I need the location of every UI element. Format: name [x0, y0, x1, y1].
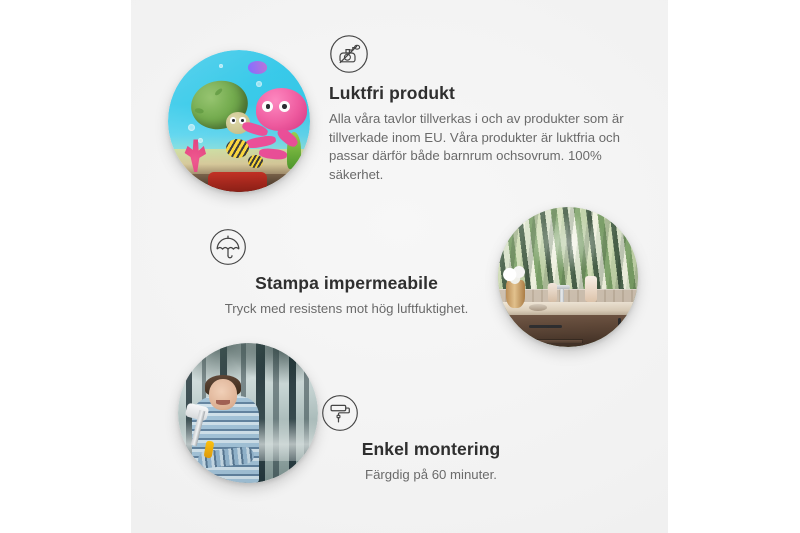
feature-title: Luktfri produkt	[329, 83, 629, 105]
screenshot-root: Luktfri produkt Alla våra tavlor tillver…	[0, 0, 800, 533]
sea-artwork	[168, 50, 310, 192]
umbrella-icon	[209, 228, 484, 266]
person-smile	[216, 400, 230, 404]
feature-description: Alla våra tavlor tillverkas i och av pro…	[329, 110, 629, 185]
sea-shipwreck	[208, 172, 268, 192]
cabinet-handle	[618, 318, 622, 343]
soap-bottle	[548, 283, 556, 303]
feature-title: Stampa impermeabile	[209, 273, 484, 295]
octopus-eye	[279, 101, 290, 112]
forest-canopy	[178, 343, 318, 402]
no-fragrance-icon	[329, 34, 629, 74]
flowers	[501, 264, 530, 285]
fish-icon	[248, 155, 264, 168]
product-image-sea[interactable]	[168, 50, 310, 192]
feature-description: Tryck med resistens mot hög luftfuktighe…	[209, 300, 484, 319]
feature-odourless: Luktfri produkt Alla våra tavlor tillver…	[329, 34, 629, 185]
drawer-handle	[529, 325, 563, 329]
feature-description: Färgdig på 60 minuter.	[321, 466, 541, 485]
soap-dish	[529, 304, 547, 311]
turtle-eye	[230, 117, 236, 123]
faucet-icon	[560, 285, 564, 302]
soap-bottle	[585, 276, 598, 303]
turtle-fin	[194, 107, 204, 113]
product-image-bathroom[interactable]	[498, 207, 638, 347]
paint-roller-icon	[321, 394, 541, 432]
painter-artwork	[178, 343, 318, 483]
bubble	[188, 124, 195, 131]
turtle-fin	[214, 87, 224, 96]
feature-title: Enkel montering	[321, 439, 541, 461]
product-image-painter[interactable]	[178, 343, 318, 483]
cabinet-drawer	[527, 339, 583, 344]
fish-icon	[226, 139, 249, 157]
infographic-canvas: Luktfri produkt Alla våra tavlor tillver…	[131, 0, 668, 533]
octopus-head	[256, 88, 307, 131]
octopus-eye	[262, 101, 273, 112]
bubble	[198, 138, 203, 143]
feature-waterproof: Stampa impermeabile Tryck med resistens …	[209, 228, 484, 319]
feature-mounting: Enkel montering Färgdig på 60 minuter.	[321, 394, 541, 485]
person-head	[209, 379, 237, 410]
bubble	[256, 81, 262, 87]
bathroom-artwork	[498, 207, 638, 347]
